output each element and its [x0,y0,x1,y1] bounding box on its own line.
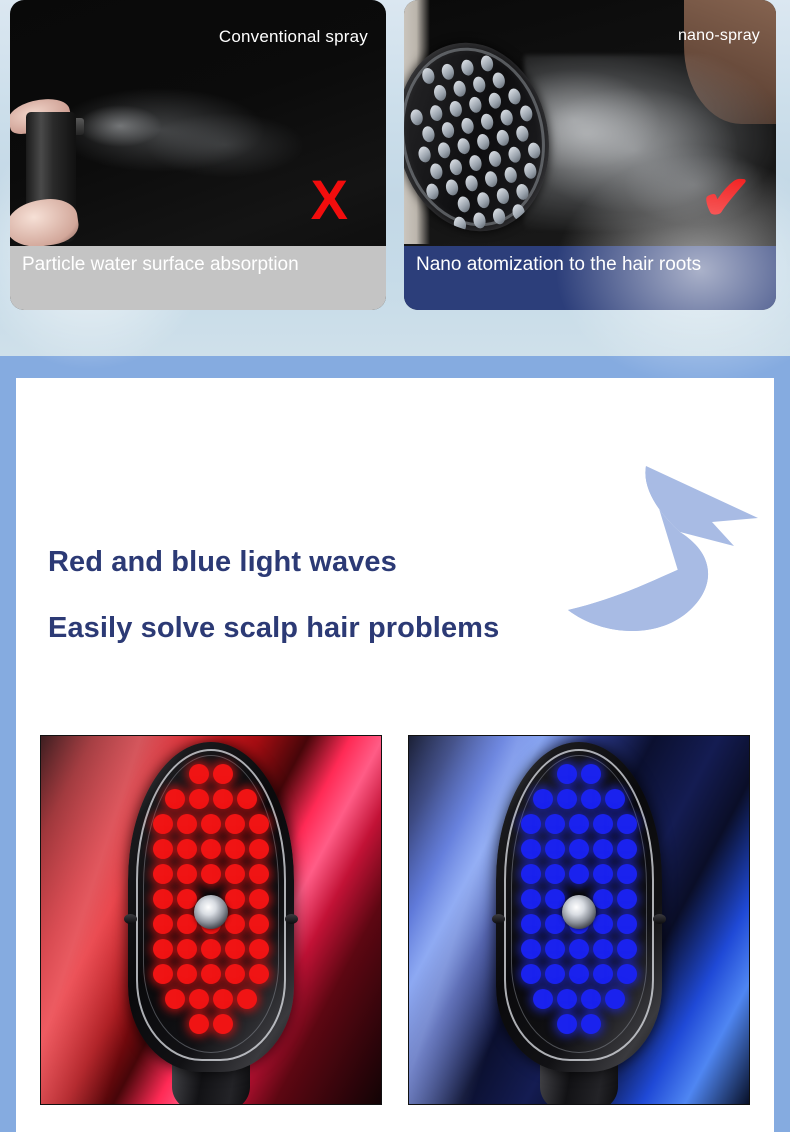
led-dot [581,764,601,784]
led-dot [617,889,637,909]
device-side-nub-left [124,914,137,924]
led-dot [213,989,233,1009]
led-dot [237,789,257,809]
led-dot [557,789,577,809]
headline-line-2: Easily solve scalp hair problems [48,612,688,645]
led-dot [225,914,245,934]
led-dot [249,864,269,884]
led-dot [521,864,541,884]
led-dot [521,889,541,909]
led-dot [249,964,269,984]
led-dot [153,889,173,909]
led-dot [581,789,601,809]
led-dot [225,814,245,834]
led-dot [177,964,197,984]
led-dot [557,989,577,1009]
led-dot [201,864,221,884]
led-dot [617,839,637,859]
led-dot [189,764,209,784]
led-dot [521,939,541,959]
panel-label-nano: nano-spray [678,27,760,45]
led-dot [521,964,541,984]
led-dot [249,814,269,834]
red-x-icon: X [311,172,348,228]
led-dot [569,964,589,984]
led-dot [249,839,269,859]
led-dot [165,789,185,809]
comparison-section: Conventional spray X Particle water surf… [0,0,790,356]
led-dot [201,839,221,859]
led-dot [557,1014,577,1034]
led-dot [225,839,245,859]
led-dot [533,789,553,809]
blue-light-device-photo [408,735,750,1105]
caption-nano: Nano atomization to the hair roots [404,246,776,310]
headline-block: Red and blue light waves Easily solve sc… [48,546,688,645]
led-dot [189,989,209,1009]
led-dot [581,1014,601,1034]
led-dot [593,939,613,959]
led-dot [177,814,197,834]
feature-card: Red and blue light waves Easily solve sc… [16,378,774,1132]
led-dot [153,964,173,984]
led-dot [225,864,245,884]
led-dot [617,864,637,884]
led-dot [593,964,613,984]
led-dot [165,989,185,1009]
device-body [496,742,662,1072]
led-dot [593,839,613,859]
led-dot [177,939,197,959]
device-center-button [562,895,596,929]
device-side-nub-right [653,914,666,924]
device-red [128,742,294,1105]
led-dot [569,939,589,959]
comparison-panel-nano: nano-spray ✔ Nano atomization to the hai… [404,0,776,310]
led-dot [189,1014,209,1034]
led-dot [249,889,269,909]
led-dot [153,814,173,834]
led-dot [177,864,197,884]
led-dot [593,814,613,834]
led-dot [533,989,553,1009]
led-dot [617,814,637,834]
led-dot [153,864,173,884]
led-dot [153,839,173,859]
led-dot [213,1014,233,1034]
device-side-nub-left [492,914,505,924]
led-dot [521,814,541,834]
led-dot [617,964,637,984]
led-dot [225,964,245,984]
red-check-icon: ✔ [700,168,752,230]
device-blue [496,742,662,1105]
led-dot [605,789,625,809]
led-dot [581,989,601,1009]
led-dot [569,839,589,859]
led-dot [593,864,613,884]
led-dot [249,939,269,959]
led-dot [153,914,173,934]
led-dot [569,814,589,834]
led-dot [545,964,565,984]
led-dot [593,889,613,909]
led-dot [617,914,637,934]
led-dot [213,789,233,809]
comparison-panel-conventional: Conventional spray X Particle water surf… [10,0,386,310]
led-dot [545,814,565,834]
led-dot [545,864,565,884]
led-dot [225,939,245,959]
led-dot [177,839,197,859]
led-dot [225,889,245,909]
device-body [128,742,294,1072]
led-dot [521,914,541,934]
led-dot [545,839,565,859]
led-dot [545,939,565,959]
led-dot [201,814,221,834]
led-dot [237,989,257,1009]
led-dot [249,914,269,934]
led-dot [213,764,233,784]
caption-conventional: Particle water surface absorption [10,246,386,310]
led-dot [201,964,221,984]
led-dot [153,939,173,959]
mist-cloud-shape [524,55,774,230]
led-dot [557,764,577,784]
led-dot [521,839,541,859]
finger-bottom-shape [10,195,81,251]
led-dot [605,989,625,1009]
device-side-nub-right [285,914,298,924]
led-dot [617,939,637,959]
led-dot [189,789,209,809]
red-light-device-photo [40,735,382,1105]
led-dot [569,864,589,884]
led-dot [201,939,221,959]
led-dot [593,914,613,934]
headline-line-1: Red and blue light waves [48,546,688,579]
device-center-button [194,895,228,929]
panel-label-conventional: Conventional spray [219,27,368,47]
